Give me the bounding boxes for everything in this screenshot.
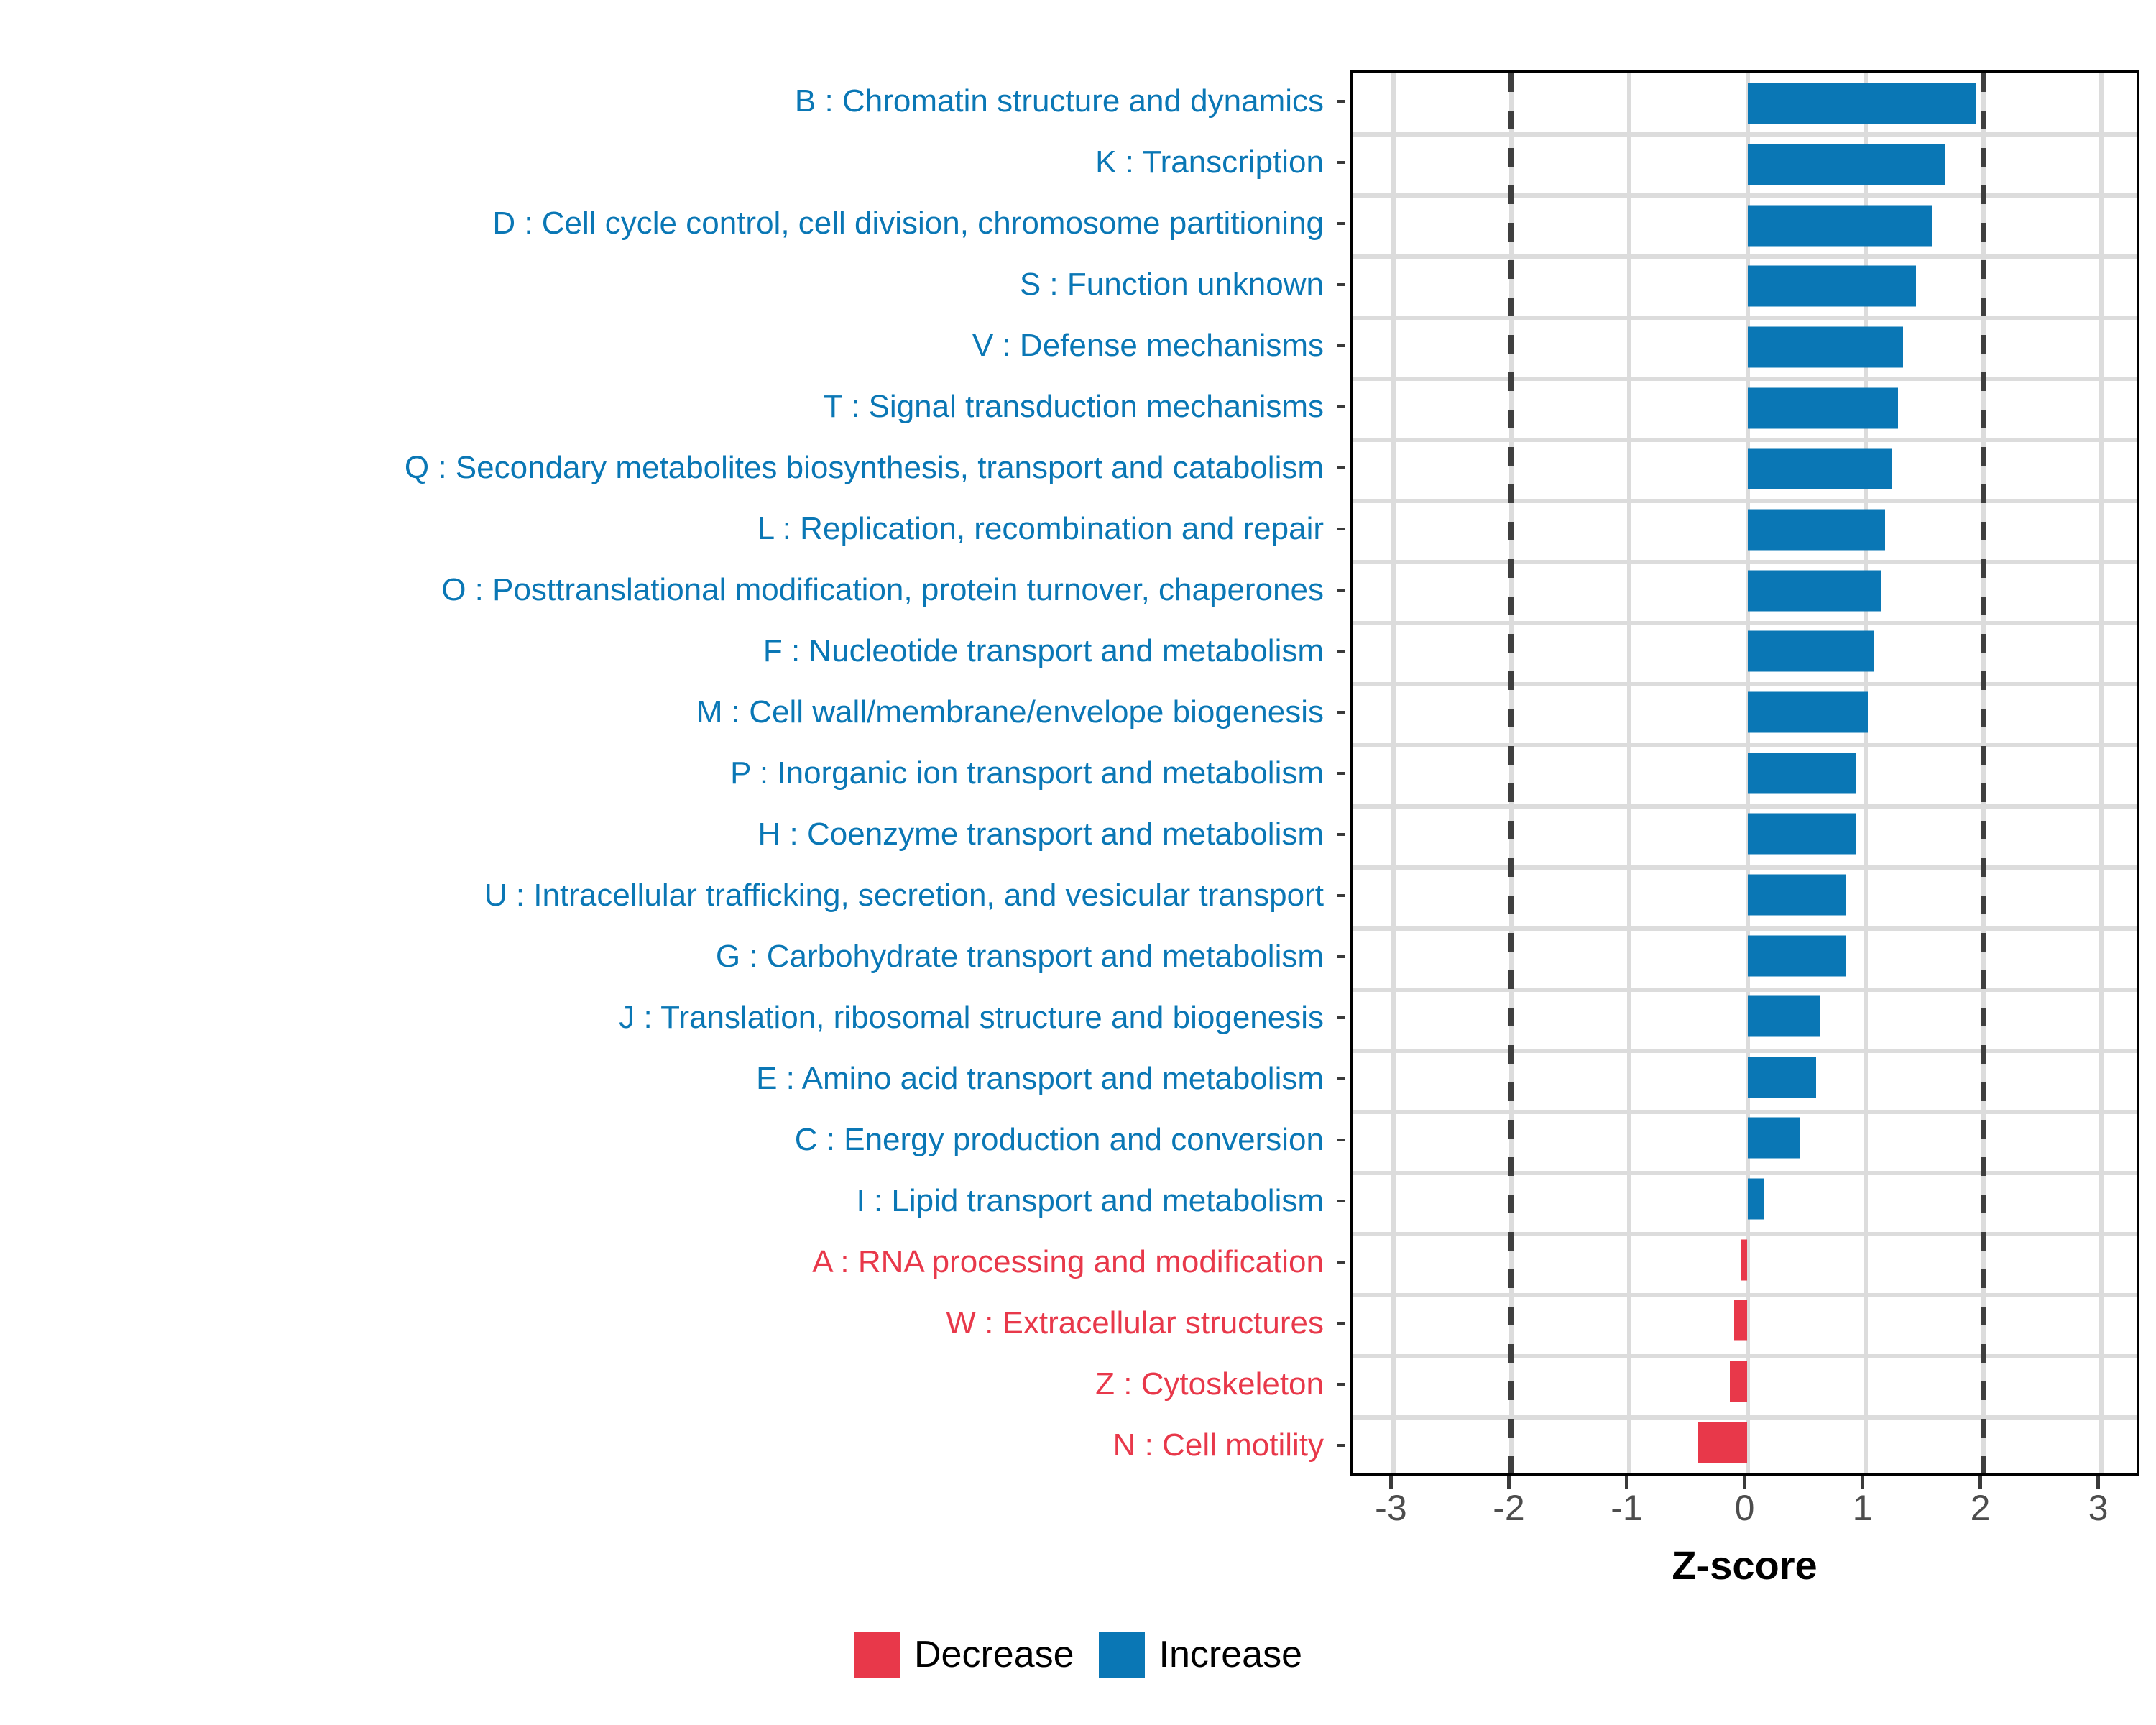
y-axis-tick	[1337, 894, 1345, 897]
x-axis-tick-label: -1	[1611, 1490, 1642, 1526]
bar-series	[1353, 73, 2137, 1473]
plot-area	[1353, 73, 2137, 1473]
y-axis-tick	[1337, 1016, 1345, 1019]
bar-row	[1353, 438, 2137, 500]
bar-row	[1353, 682, 2137, 743]
y-axis-label: H : Coenzyme transport and metabolism	[758, 819, 1324, 850]
y-axis-label-row: H : Coenzyme transport and metabolism	[0, 804, 1337, 865]
x-axis-tick-label: 0	[1735, 1490, 1755, 1526]
x-axis-tick	[1978, 1476, 1982, 1489]
reference-line	[1508, 73, 1514, 1473]
x-axis-tick	[2096, 1476, 2100, 1489]
x-axis-tick	[1743, 1476, 1746, 1489]
bar	[1748, 1057, 1816, 1098]
y-axis-label: C : Energy production and conversion	[795, 1124, 1324, 1156]
y-axis-tick	[1337, 650, 1345, 653]
y-axis-label: I : Lipid transport and metabolism	[856, 1185, 1324, 1217]
bar-row	[1353, 134, 2137, 195]
bar	[1734, 1300, 1747, 1341]
cog-zscore-bar-chart: B : Chromatin structure and dynamicsK : …	[0, 0, 2156, 1725]
bar	[1748, 266, 1917, 307]
y-axis-label-row: W : Extracellular structures	[0, 1292, 1337, 1353]
bar	[1748, 996, 1820, 1037]
y-axis-tick	[1337, 1138, 1345, 1141]
y-axis-label: K : Transcription	[1095, 147, 1324, 178]
y-axis-label: V : Defense mechanisms	[972, 330, 1324, 362]
y-axis-tick	[1337, 283, 1345, 286]
bar	[1741, 1239, 1748, 1280]
y-axis-label-row: S : Function unknown	[0, 254, 1337, 315]
y-axis-label-row: Q : Secondary metabolites biosynthesis, …	[0, 437, 1337, 498]
y-axis-tick	[1337, 405, 1345, 408]
bar-row	[1353, 804, 2137, 865]
bar-row	[1353, 377, 2137, 438]
y-axis-label-row: I : Lipid transport and metabolism	[0, 1170, 1337, 1231]
y-axis-label: M : Cell wall/membrane/envelope biogenes…	[696, 696, 1324, 728]
bar	[1748, 448, 1893, 489]
bar-row	[1353, 865, 2137, 926]
legend-item[interactable]: Increase	[1099, 1632, 1302, 1678]
y-axis-label: P : Inorganic ion transport and metaboli…	[730, 758, 1324, 789]
y-axis-label-row: F : Nucleotide transport and metabolism	[0, 620, 1337, 681]
y-axis-label-row: B : Chromatin structure and dynamics	[0, 70, 1337, 132]
y-axis-tick	[1337, 1200, 1345, 1202]
y-axis-label: Z : Cytoskeleton	[1095, 1368, 1324, 1400]
bar	[1748, 83, 1976, 124]
y-axis-label-row: E : Amino acid transport and metabolism	[0, 1048, 1337, 1109]
bar-row	[1353, 742, 2137, 804]
y-axis-tick	[1337, 772, 1345, 775]
bar-row	[1353, 621, 2137, 682]
bar	[1748, 874, 1847, 915]
y-axis-label: D : Cell cycle control, cell division, c…	[492, 208, 1324, 239]
bar	[1748, 691, 1868, 732]
y-axis-tick	[1337, 222, 1345, 225]
y-axis-label-row: O : Posttranslational modification, prot…	[0, 559, 1337, 620]
bar	[1748, 144, 1946, 185]
y-axis-label: W : Extracellular structures	[946, 1307, 1324, 1339]
y-axis-tick	[1337, 528, 1345, 530]
y-axis-label: U : Intracellular trafficking, secretion…	[484, 880, 1324, 911]
y-axis-tick	[1337, 100, 1345, 103]
bar-row	[1353, 560, 2137, 621]
x-axis-tick-label: 2	[1971, 1490, 1991, 1526]
bar	[1748, 387, 1899, 428]
y-axis-label-row: T : Signal transduction mechanisms	[0, 376, 1337, 437]
y-axis-tick	[1337, 161, 1345, 164]
plot-panel	[1350, 70, 2139, 1476]
y-axis-label-row: L : Replication, recombination and repai…	[0, 498, 1337, 559]
bar-row	[1353, 1351, 2137, 1412]
legend-swatch	[854, 1632, 900, 1678]
y-axis-label-row: M : Cell wall/membrane/envelope biogenes…	[0, 681, 1337, 742]
y-axis-tick	[1337, 1077, 1345, 1080]
bar	[1748, 509, 1886, 550]
y-axis-label: L : Replication, recombination and repai…	[757, 513, 1324, 545]
y-axis-label-row: U : Intracellular trafficking, secretion…	[0, 865, 1337, 926]
y-axis-tick	[1337, 1322, 1345, 1325]
y-axis-label: G : Carbohydrate transport and metabolis…	[716, 941, 1324, 972]
y-axis-label-row: V : Defense mechanisms	[0, 315, 1337, 376]
bar-row	[1353, 986, 2137, 1047]
x-axis-tick	[1389, 1476, 1393, 1489]
legend-label: Increase	[1159, 1636, 1302, 1673]
bar	[1748, 753, 1856, 793]
y-axis-label: B : Chromatin structure and dynamics	[795, 86, 1324, 117]
bar	[1748, 570, 1882, 611]
bar	[1748, 814, 1856, 855]
x-axis-tick-label: 3	[2088, 1490, 2109, 1526]
bar-row	[1353, 1229, 2137, 1290]
legend-label: Decrease	[914, 1636, 1074, 1673]
bar	[1698, 1422, 1748, 1463]
y-axis-tick	[1337, 833, 1345, 836]
bar	[1748, 935, 1846, 976]
legend: DecreaseIncrease	[0, 1632, 2156, 1678]
y-axis-label-row: D : Cell cycle control, cell division, c…	[0, 193, 1337, 254]
bar	[1730, 1361, 1748, 1402]
y-axis-label: F : Nucleotide transport and metabolism	[763, 635, 1324, 667]
x-axis-tick	[1861, 1476, 1864, 1489]
bar-row	[1353, 1108, 2137, 1169]
legend-swatch	[1099, 1632, 1145, 1678]
y-axis-label: N : Cell motility	[1113, 1430, 1324, 1461]
x-axis-tick	[1625, 1476, 1628, 1489]
y-axis-label-row: A : RNA processing and modification	[0, 1231, 1337, 1292]
y-axis-tick	[1337, 711, 1345, 714]
y-axis-label: Q : Secondary metabolites biosynthesis, …	[405, 452, 1324, 484]
y-axis-label-row: G : Carbohydrate transport and metabolis…	[0, 926, 1337, 987]
y-axis-label-row: P : Inorganic ion transport and metaboli…	[0, 742, 1337, 804]
y-axis-tick	[1337, 466, 1345, 469]
y-axis-label: T : Signal transduction mechanisms	[824, 391, 1324, 423]
y-axis-tick	[1337, 1261, 1345, 1264]
y-axis-label-row: N : Cell motility	[0, 1414, 1337, 1476]
x-axis-title: Z-score	[1350, 1545, 2139, 1586]
bar-row	[1353, 195, 2137, 256]
bar-row	[1353, 1412, 2137, 1473]
reference-line	[1981, 73, 1986, 1473]
y-axis-label-row: Z : Cytoskeleton	[0, 1353, 1337, 1414]
x-axis-tick-label: -3	[1375, 1490, 1406, 1526]
y-axis-label: A : RNA processing and modification	[812, 1246, 1324, 1278]
y-axis-label-row: J : Translation, ribosomal structure and…	[0, 987, 1337, 1048]
bar-row	[1353, 1169, 2137, 1230]
y-axis-label-row: K : Transcription	[0, 132, 1337, 193]
y-axis-tick	[1337, 1444, 1345, 1447]
y-axis-label: O : Posttranslational modification, prot…	[441, 574, 1324, 606]
bar	[1748, 1179, 1764, 1220]
y-axis-category-labels: B : Chromatin structure and dynamicsK : …	[0, 70, 1337, 1476]
bar-row	[1353, 73, 2137, 134]
bar	[1748, 326, 1904, 367]
y-axis-tick	[1337, 955, 1345, 958]
legend-item[interactable]: Decrease	[854, 1632, 1074, 1678]
bar-row	[1353, 1290, 2137, 1351]
y-axis-tick	[1337, 1383, 1345, 1386]
bar	[1748, 631, 1874, 672]
y-axis-label: S : Function unknown	[1020, 269, 1324, 300]
y-axis-label: J : Translation, ribosomal structure and…	[619, 1002, 1324, 1034]
bar-row	[1353, 256, 2137, 317]
bar-row	[1353, 925, 2137, 986]
x-axis-tick-label: -2	[1493, 1490, 1524, 1526]
bar-row	[1353, 317, 2137, 378]
bar-row	[1353, 500, 2137, 561]
x-axis-tick	[1507, 1476, 1511, 1489]
y-axis-tick	[1337, 344, 1345, 347]
bar	[1748, 205, 1933, 246]
y-axis-tick	[1337, 589, 1345, 592]
y-axis-label-row: C : Energy production and conversion	[0, 1109, 1337, 1170]
bar-row	[1353, 1047, 2137, 1108]
y-axis-label: E : Amino acid transport and metabolism	[756, 1063, 1324, 1095]
bar	[1748, 1118, 1801, 1159]
x-axis-tick-label: 1	[1853, 1490, 1873, 1526]
